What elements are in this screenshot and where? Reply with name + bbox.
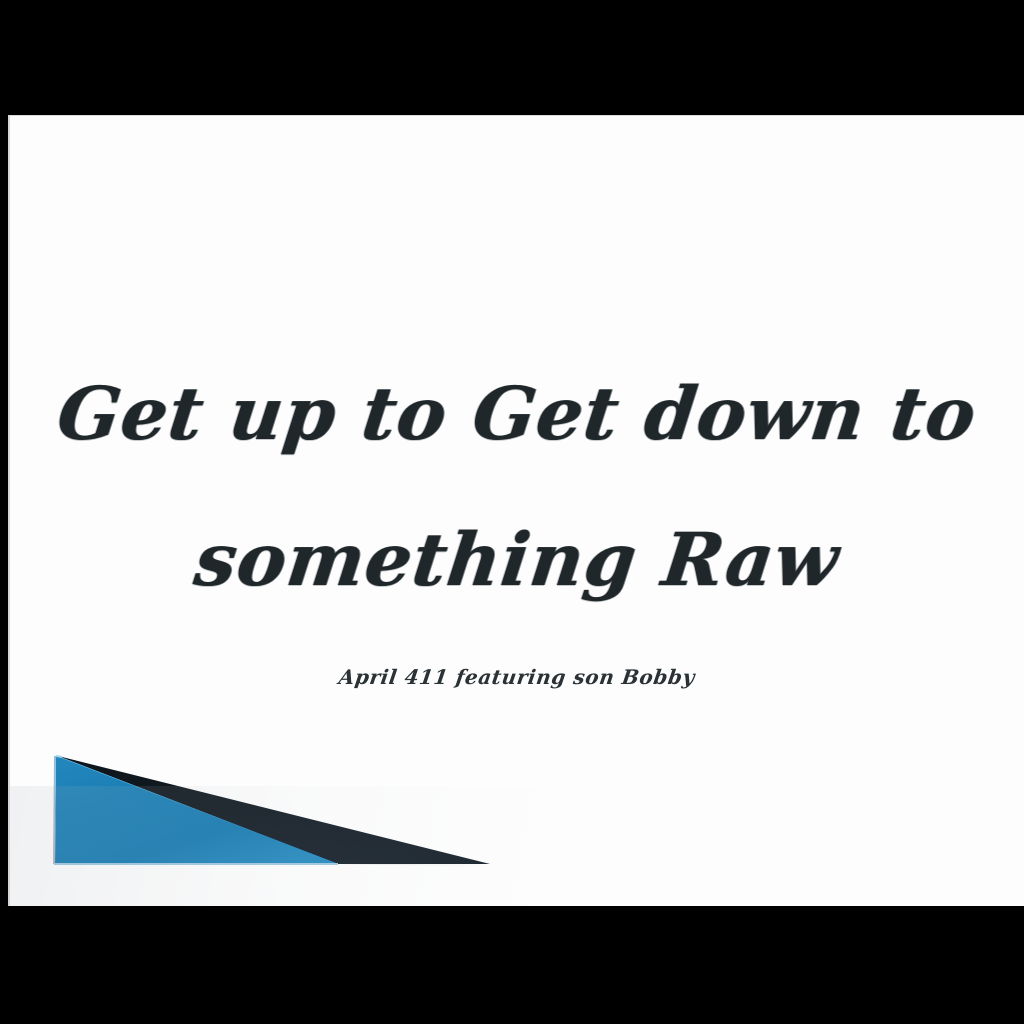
blue-triangle: [55, 756, 336, 863]
title-line-2: something Raw: [8, 484, 1024, 636]
wedge-fade: [338, 856, 518, 867]
triangle-top-edge: [56, 756, 62, 757]
corner-wedge-graphic: [38, 752, 518, 867]
video-frame: Get up to Get down to something Raw Apri…: [0, 0, 1024, 1024]
title-line-1: Get up to Get down to: [8, 338, 1024, 490]
wedge-highlight: [54, 756, 338, 864]
slide-subtitle: April 411 featuring son Bobby: [8, 665, 1024, 689]
slide-title: Get up to Get down to something Raw: [10, 338, 1024, 636]
triangle-left-edge: [54, 756, 55, 864]
presentation-slide: Get up to Get down to something Raw Apri…: [8, 115, 1024, 906]
dark-wedge: [58, 756, 490, 864]
letterbox-bottom: [0, 906, 1024, 1024]
letterbox-top: [0, 0, 1024, 115]
